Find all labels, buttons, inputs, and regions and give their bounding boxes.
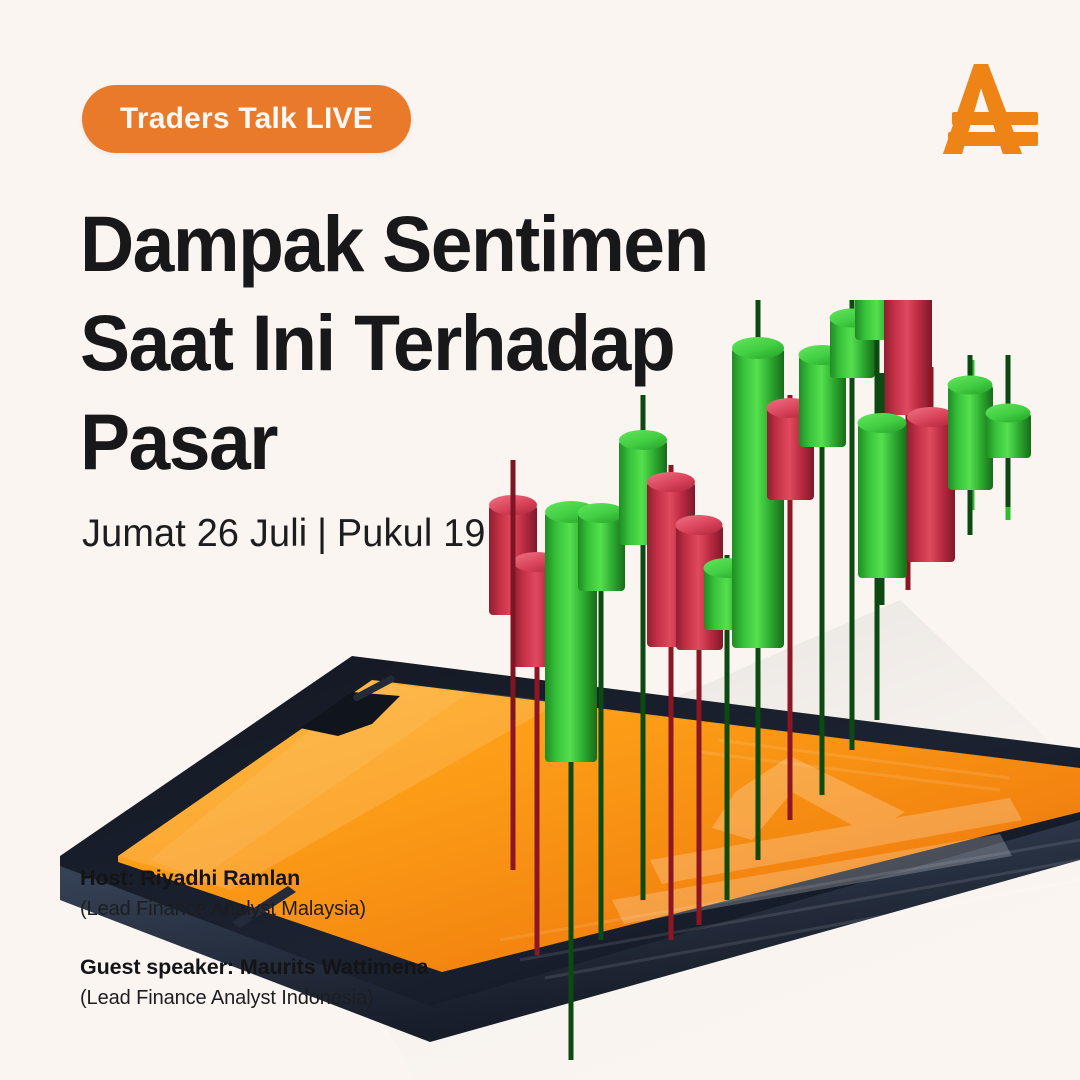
guest-name: Guest speaker: Maurits Wattimena (80, 955, 428, 980)
candle-bullish (858, 373, 908, 605)
live-badge[interactable]: Traders Talk LIVE (82, 85, 411, 153)
rising-candles-group (840, 355, 1080, 635)
headline-line-1: Dampak Sentimen (80, 194, 764, 293)
credits-block: Host: Riyadhi Ramlan (Lead Finance Analy… (80, 866, 428, 1010)
host-role: (Lead Finance Analyst Malaysia) (80, 898, 428, 921)
brand-a-logo-icon (928, 58, 1040, 162)
guest-credit: Guest speaker: Maurits Wattimena (Lead F… (80, 955, 428, 1010)
host-credit: Host: Riyadhi Ramlan (Lead Finance Analy… (80, 866, 428, 921)
guest-role: (Lead Finance Analyst Indonesia) (80, 987, 428, 1010)
promo-poster: Traders Talk LIVE Dampak Sentimen Saat I… (0, 0, 1080, 1080)
candle-bearish (907, 367, 955, 562)
live-badge-label: Traders Talk LIVE (120, 102, 373, 136)
host-name: Host: Riyadhi Ramlan (80, 866, 428, 891)
